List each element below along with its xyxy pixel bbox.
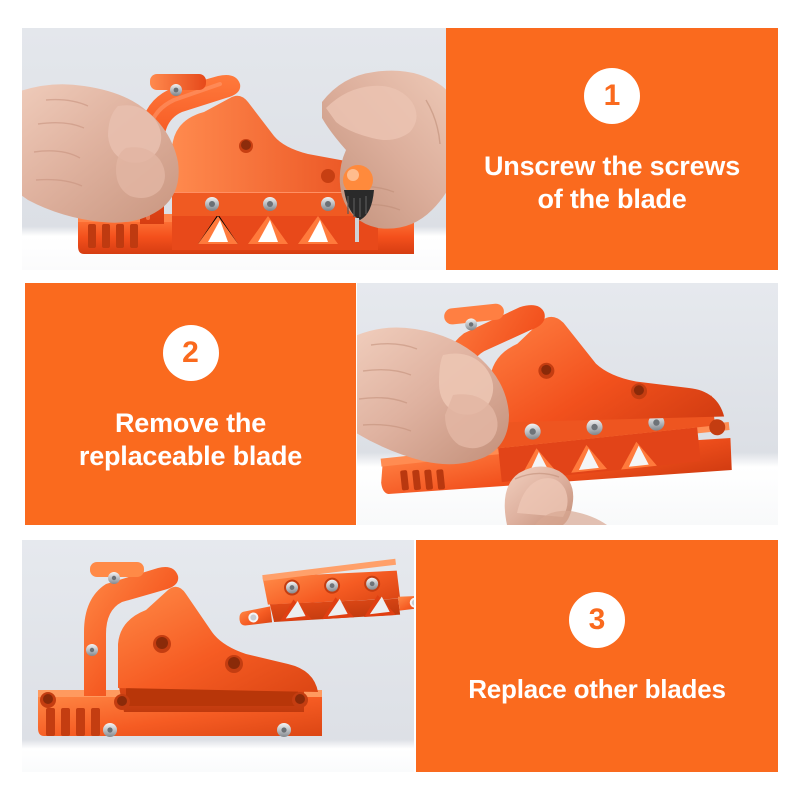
step-2-number: 2 (163, 325, 219, 381)
step-2-caption: 2 Remove the replaceable blade (25, 325, 356, 473)
step-3-photo (22, 540, 414, 772)
step-1-caption-text: Unscrew the screws of the blade (470, 150, 754, 216)
step-1-caption: 1 Unscrew the screws of the blade (446, 68, 778, 216)
step-2-caption-text: Remove the replaceable blade (65, 407, 316, 473)
step-2-illustration (357, 283, 778, 525)
step-2-photo (357, 283, 778, 525)
step-1-illustration (22, 28, 446, 270)
step-3-number: 3 (569, 592, 625, 648)
step-3-illustration (22, 540, 414, 772)
step-3-caption: 3 Replace other blades (416, 592, 778, 706)
step-1-photo (22, 28, 446, 270)
step-1-caption-panel: 1 Unscrew the screws of the blade (446, 28, 778, 270)
step-3-caption-panel: 3 Replace other blades (416, 540, 778, 772)
step-3-caption-text: Replace other blades (454, 674, 740, 706)
step-1-number: 1 (584, 68, 640, 124)
instruction-sheet: 1 Unscrew the screws of the blade 2 Remo… (0, 0, 800, 800)
step-2-caption-panel: 2 Remove the replaceable blade (25, 283, 356, 525)
